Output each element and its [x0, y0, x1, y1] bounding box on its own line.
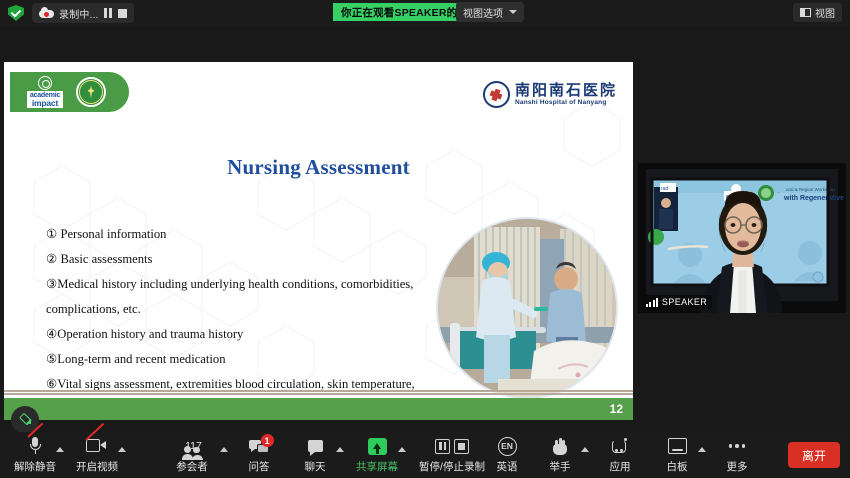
academic-impact-logo: academic impact: [20, 76, 70, 108]
toolbar-label-qa: 问答: [249, 459, 270, 474]
more-dots-icon: [729, 436, 746, 456]
toolbar-item-raise-hand[interactable]: 举手: [533, 436, 587, 474]
toolbar-label-more: 更多: [727, 459, 748, 474]
slide-page-number: 12: [610, 402, 623, 416]
toolbar-item-unmute[interactable]: 解除静音: [8, 436, 62, 474]
academic-impact-banner: academic impact: [10, 72, 129, 112]
toolbar-label-chat: 聊天: [305, 459, 326, 474]
toolbar-item-start-video[interactable]: 开启视频: [70, 436, 124, 474]
zoom-meeting-window: 录制中... 你正在观看SPEAKER的屏幕 视图选项 视图: [0, 0, 850, 478]
speaker-name-tag: SPEAKER: [641, 295, 712, 309]
hospital-logo: 南阳南石医院 Nanshi Hospital of Nanyang: [483, 81, 617, 108]
view-options-dropdown[interactable]: 视图选项: [456, 2, 524, 22]
speaker-video-tile[interactable]: rad academic ural & Region Workshop with…: [638, 163, 846, 313]
view-button[interactable]: 视图: [793, 3, 842, 22]
apps-icon: [611, 436, 629, 456]
toolbar-item-share-screen[interactable]: 共享屏幕: [350, 436, 404, 474]
toolbar-item-more[interactable]: 更多: [710, 436, 764, 474]
top-bar: 录制中... 你正在观看SPEAKER的屏幕 视图选项 视图: [0, 0, 850, 26]
hospital-name-en: Nanshi Hospital of Nanyang: [515, 99, 617, 106]
recording-indicator: 录制中...: [32, 3, 134, 23]
un-emblem-icon: [38, 76, 52, 90]
qa-badge: 1: [261, 434, 274, 447]
list-item: ④Operation history and trauma history: [46, 322, 426, 347]
toolbar-item-qa[interactable]: 1 问答: [232, 436, 286, 474]
camera-off-icon: [86, 436, 108, 456]
svg-text:.: .: [778, 189, 779, 195]
whiteboard-icon: [668, 436, 687, 456]
share-options-caret-icon[interactable]: [398, 447, 406, 452]
toolbar-item-chat[interactable]: 聊天: [288, 436, 342, 474]
speaker-name: SPEAKER: [662, 297, 707, 307]
leave-meeting-button[interactable]: 离开: [788, 442, 840, 468]
encryption-shield-icon[interactable]: [8, 5, 24, 21]
unmute-options-caret-icon[interactable]: [56, 447, 64, 452]
toolbar-label-start-video: 开启视频: [76, 459, 118, 474]
toolbar-item-apps[interactable]: 应用: [593, 436, 647, 474]
hospital-name-cn: 南阳南石医院: [515, 84, 617, 99]
hospital-room-photo: [436, 217, 618, 399]
chevron-down-icon: [509, 10, 517, 14]
toolbar-label-participants: 参会者: [176, 459, 208, 474]
toolbar-item-participants[interactable]: 117 参会者: [165, 436, 219, 474]
language-en-icon: EN: [498, 436, 517, 456]
slide-footer-lines: [4, 390, 633, 398]
stop-icon[interactable]: [454, 439, 469, 454]
toolbar-label-share-screen: 共享屏幕: [356, 459, 398, 474]
pencil-icon: [16, 411, 34, 429]
pause-icon[interactable]: [435, 439, 450, 454]
slide-footer: 12: [4, 398, 633, 420]
toolbar-label-unmute: 解除静音: [14, 459, 56, 474]
stop-recording-button[interactable]: [118, 9, 127, 18]
view-button-label: 视图: [815, 5, 835, 20]
hospital-badge-icon: [483, 81, 510, 108]
toolbar-item-whiteboard[interactable]: 白板: [650, 436, 704, 474]
view-options-label: 视图选项: [463, 5, 503, 20]
signal-bars-icon: [646, 298, 658, 307]
chat-bubble-icon: [308, 436, 323, 456]
layout-icon: [800, 8, 811, 17]
cloud-record-icon: [39, 8, 54, 18]
pause-stop-icon: [435, 436, 469, 456]
chat-options-caret-icon[interactable]: [336, 447, 344, 452]
raise-hand-options-caret-icon[interactable]: [581, 447, 589, 452]
toolbar-label-language: 英语: [497, 459, 518, 474]
list-item: ① Personal information: [46, 222, 426, 247]
slide-title: Nursing Assessment: [4, 155, 633, 180]
shared-screen-slide[interactable]: academic impact 南阳南石医院 Nanshi Hospital o…: [4, 62, 633, 420]
list-item: ② Basic assessments: [46, 247, 426, 272]
meeting-toolbar: 解除静音 开启视频 117 参会者: [0, 432, 850, 478]
question-bubbles-icon: 1: [249, 436, 270, 456]
green-seal-icon: [76, 77, 106, 107]
svg-text:rad: rad: [661, 186, 668, 192]
speaker-video-frame: rad academic ural & Region Workshop with…: [638, 163, 846, 313]
share-screen-icon: [368, 436, 387, 456]
svg-text:with Regenerative: with Regenerative: [783, 195, 844, 202]
microphone-muted-icon: [30, 436, 41, 456]
recording-label: 录制中...: [59, 6, 99, 21]
list-item: ⑤Long-term and recent medication: [46, 347, 426, 372]
list-item: ③Medical history including underlying he…: [46, 272, 426, 322]
toolbar-label-pause-stop-recording: 暂停/停止录制: [419, 459, 485, 474]
raise-hand-icon: [553, 436, 567, 456]
toolbar-label-whiteboard: 白板: [667, 459, 688, 474]
toolbar-item-language[interactable]: EN 英语: [480, 436, 534, 474]
toolbar-label-raise-hand: 举手: [550, 459, 571, 474]
participants-options-caret-icon[interactable]: [220, 447, 228, 452]
whiteboard-options-caret-icon[interactable]: [698, 447, 706, 452]
pause-recording-button[interactable]: [104, 8, 113, 18]
academic-impact-line2: impact: [30, 100, 60, 108]
video-options-caret-icon[interactable]: [118, 447, 126, 452]
toolbar-label-apps: 应用: [610, 459, 631, 474]
